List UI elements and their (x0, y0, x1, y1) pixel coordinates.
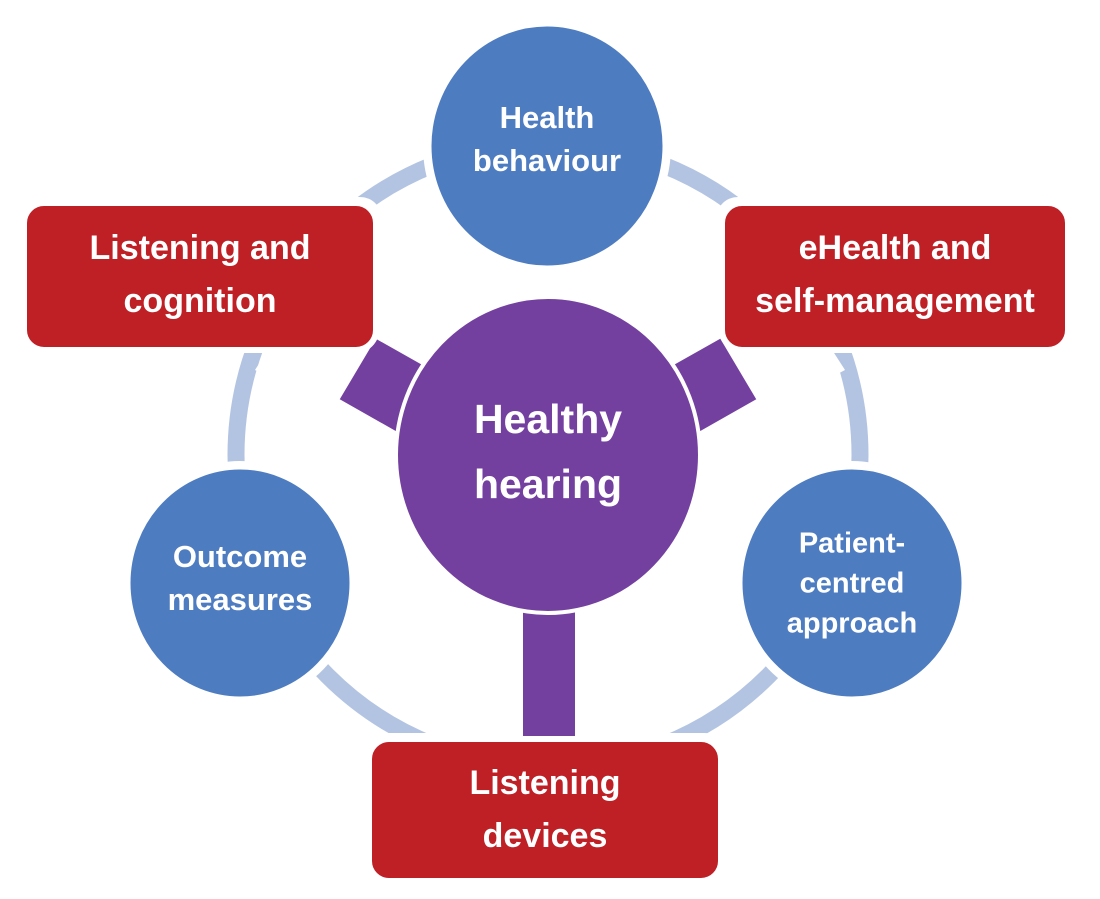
healthy-hearing-hub[interactable]: Healthy hearing (337, 297, 759, 758)
diagram-canvas: Healthy hearing Health behaviour eHealth… (0, 0, 1100, 899)
listening-cognition-box (24, 203, 376, 350)
node-health-behaviour[interactable]: Health behaviour (429, 24, 665, 268)
patient-centred-label-line-1: Patient- (799, 528, 905, 560)
ehealth-box (722, 203, 1068, 350)
node-listening-devices[interactable]: Listening devices (369, 739, 721, 881)
listening-devices-box (369, 739, 721, 881)
hub-label-line-1: Healthy (474, 396, 622, 442)
listening-cognition-label-line-1: Listening and (90, 229, 311, 267)
node-ehealth-and-self-management[interactable]: eHealth and self-management (722, 203, 1068, 350)
listening-devices-label-line-1: Listening (469, 764, 620, 802)
hub-label-line-2: hearing (474, 461, 622, 507)
hub-circle (396, 297, 700, 613)
patient-centred-label-line-3: approach (787, 608, 918, 640)
ehealth-label-line-2: self-management (755, 282, 1035, 320)
patient-centred-label-line-2: centred (800, 568, 905, 600)
listening-cognition-label-line-2: cognition (124, 282, 277, 320)
health-behaviour-label-line-2: behaviour (473, 143, 621, 178)
health-behaviour-label-line-1: Health (500, 100, 595, 135)
node-listening-and-cognition[interactable]: Listening and cognition (24, 203, 376, 350)
ehealth-label-line-1: eHealth and (799, 229, 992, 267)
healthy-hearing-diagram: Healthy hearing Health behaviour eHealth… (0, 0, 1100, 899)
node-outcome-measures[interactable]: Outcome measures (128, 467, 352, 699)
outcome-measures-label-line-2: measures (168, 582, 313, 617)
listening-devices-label-line-2: devices (483, 817, 608, 855)
outcome-measures-label-line-1: Outcome (173, 539, 307, 574)
node-patient-centred-approach[interactable]: Patient- centred approach (740, 467, 964, 699)
